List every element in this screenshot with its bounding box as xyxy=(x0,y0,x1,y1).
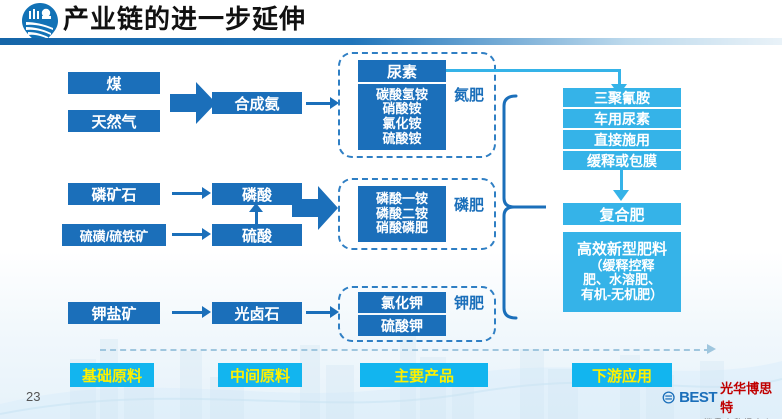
input-box-sulfur-pyrite: 硫磺/硫铁矿 xyxy=(62,224,166,246)
product-box-potassium-sulfate: 硫酸钾 xyxy=(358,315,446,336)
bracket-groups-to-compound xyxy=(500,92,560,322)
stage-label-intermediate-materials: 中间原料 xyxy=(218,363,302,387)
stage-label-downstream-applications: 下游应用 xyxy=(572,363,672,387)
downstream-box-melamine: 三聚氰胺 xyxy=(563,88,681,107)
product-box-nitrogen-others: 碳酸氢铵 硝酸铵 氯化铵 硫酸铵 xyxy=(358,84,446,150)
page-number: 23 xyxy=(26,389,40,404)
brand-logo: BEST 光华博思特 消费大数据中心 xyxy=(662,378,774,412)
product-box-potassium-chloride: 氯化钾 xyxy=(358,292,446,313)
group-label-text: 氮肥 xyxy=(454,87,484,104)
connector-phosrock-line xyxy=(172,192,206,195)
product-box-urea: 尿素 xyxy=(358,60,446,82)
product-label: 碳酸氢铵 xyxy=(376,88,428,103)
group-label-text: 磷肥 xyxy=(454,197,484,214)
group-label-text: 钾肥 xyxy=(454,295,484,312)
group-label-potassium: 钾肥 xyxy=(452,296,486,312)
downstream-box-direct-application: 直接施用 xyxy=(563,130,681,149)
slide-canvas: 产业链的进一步延伸 煤 天然气 合成氨 尿素 碳酸氢铵 硝酸铵 氯化铵 硫酸铵 … xyxy=(0,0,782,419)
input-box-potash-ore: 钾盐矿 xyxy=(68,302,160,324)
brand-logo-main: BEST 光华博思特 xyxy=(662,378,774,416)
input-box-natural-gas: 天然气 xyxy=(68,110,160,132)
intermediate-box-carnallite: 光卤石 xyxy=(212,302,302,324)
new-fertilizer-detail-line: （缓释控释 xyxy=(589,259,654,274)
group-label-phosphate: 磷肥 xyxy=(452,198,486,214)
product-label: 硝酸磷肥 xyxy=(376,221,428,236)
connector-sulfur-line xyxy=(172,233,206,236)
product-label: 硫酸铵 xyxy=(382,132,421,147)
connector-uses-to-compound-line xyxy=(620,170,623,192)
new-fertilizer-detail-line: 有机-无机肥） xyxy=(581,288,663,303)
connector-potash-arrow xyxy=(202,306,211,318)
stage-label-main-products: 主要产品 xyxy=(360,363,488,387)
connector-potash-line xyxy=(172,311,206,314)
downstream-box-slow-release-coating: 缓释或包膜 xyxy=(563,151,681,170)
stage-label-basic-materials: 基础原料 xyxy=(70,363,154,387)
brand-mark-text: BEST xyxy=(679,389,717,406)
downstream-box-new-fertilizer: 高效新型肥料 （缓释控释 肥、水溶肥、 有机-无机肥） xyxy=(563,232,681,312)
input-box-coal: 煤 xyxy=(68,72,160,94)
connector-sulfur-arrow xyxy=(202,228,211,240)
block-arrow-row1 xyxy=(170,82,216,124)
stage-timeline-arrow xyxy=(707,344,716,354)
page-title: 产业链的进一步延伸 xyxy=(63,1,306,37)
intermediate-box-sulfuric-acid: 硫酸 xyxy=(212,224,302,246)
product-label: 硝酸铵 xyxy=(382,102,421,117)
block-arrow-row2 xyxy=(292,186,338,230)
intermediate-box-phosphoric-acid: 磷酸 xyxy=(212,183,302,205)
new-fertilizer-title: 高效新型肥料 xyxy=(577,242,667,259)
product-label: 磷酸一铵 xyxy=(376,192,428,207)
brand-name-cn: 光华博思特 xyxy=(720,378,774,416)
best-mark-icon xyxy=(662,390,676,405)
header-rule xyxy=(0,38,782,45)
intermediate-box-synthetic-ammonia: 合成氨 xyxy=(212,92,302,114)
product-box-phosphate: 磷酸一铵 磷酸二铵 硝酸磷肥 xyxy=(358,186,446,242)
connector-sulfuric-to-phosphoric-arrow xyxy=(249,203,263,212)
slide-header: 产业链的进一步延伸 xyxy=(0,0,782,46)
new-fertilizer-detail-line: 肥、水溶肥、 xyxy=(583,273,661,288)
stage-timeline xyxy=(100,349,710,351)
group-label-nitrogen: 氮肥 xyxy=(452,88,486,104)
product-label: 磷酸二铵 xyxy=(376,207,428,222)
product-label: 氯化铵 xyxy=(382,117,421,132)
connector-phosrock-arrow xyxy=(202,187,211,199)
input-box-phosphate-rock: 磷矿石 xyxy=(68,183,160,205)
connector-urea-to-uses-h xyxy=(446,69,621,72)
connector-uses-to-compound-arrow xyxy=(613,190,629,201)
downstream-box-compound-fertilizer: 复合肥 xyxy=(563,203,681,225)
downstream-box-vehicle-urea: 车用尿素 xyxy=(563,109,681,128)
